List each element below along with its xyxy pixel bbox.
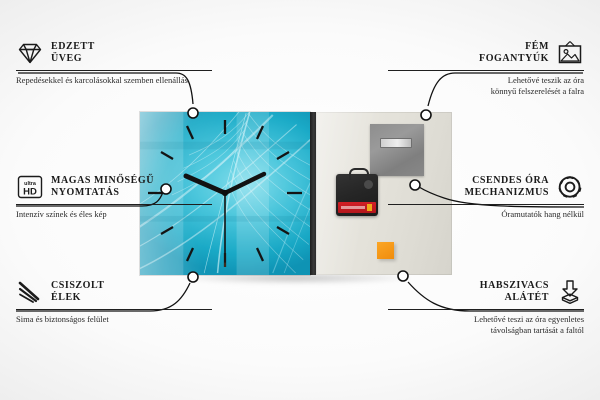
divider (388, 204, 584, 205)
feature-header: EDZETT ÜVEG (16, 40, 212, 66)
feature-title: HABSZIVACS ALÁTÉT (480, 280, 549, 305)
feature-header: HABSZIVACS ALÁTÉT (388, 279, 584, 305)
feature-title: MAGAS MINŐSÉGŰ NYOMTATÁS (51, 175, 154, 200)
feature-description: Lehetővé teszi az óra egyenletes távolsá… (388, 314, 584, 335)
mechanism-dial (364, 180, 373, 189)
feature-silent-mechanism[interactable]: CSENDES ÓRA MECHANIZMUS Óramutatók hang … (388, 174, 584, 220)
infographic-stage: EDZETT ÜVEG Repedésekkel és karcolásokka… (0, 0, 600, 400)
feature-header: ultra HD MAGAS MINŐSÉGŰ NYOMTATÁS (16, 174, 212, 200)
feature-tempered-glass[interactable]: EDZETT ÜVEG Repedésekkel és karcolásokka… (16, 40, 212, 86)
feature-title: FÉM FOGANTYÚK (479, 41, 549, 66)
foam-spacer-pad (377, 242, 394, 259)
battery (338, 202, 376, 213)
picture-frame-hanger-icon (556, 40, 584, 66)
battery-stripe (341, 206, 365, 209)
feature-description: Repedésekkel és karcolásokkal szemben el… (16, 75, 212, 86)
feature-description: Lehetővé teszik az óra könnyű felszerelé… (388, 75, 584, 96)
metal-hanger (370, 124, 424, 176)
battery-terminal (367, 204, 372, 211)
down-arrow-pad-icon (556, 279, 584, 305)
clock-mechanism (336, 174, 378, 216)
feature-description: Intenzív színek és éles kép (16, 209, 212, 220)
feature-title: EDZETT ÜVEG (51, 41, 95, 66)
divider (16, 204, 212, 205)
feature-title: CSISZOLT ÉLEK (51, 280, 105, 305)
feature-high-quality-print[interactable]: ultra HD MAGAS MINŐSÉGŰ NYOMTATÁS Intenz… (16, 174, 212, 220)
hanger-slot (380, 138, 412, 148)
diagonal-lines-icon (16, 279, 44, 305)
feature-foam-spacer[interactable]: HABSZIVACS ALÁTÉT Lehetővé teszi az óra … (388, 279, 584, 335)
svg-text:HD: HD (23, 187, 37, 198)
gear-icon (556, 174, 584, 200)
divider (16, 309, 212, 310)
divider (388, 309, 584, 310)
feature-title: CSENDES ÓRA MECHANIZMUS (465, 175, 549, 200)
feature-header: CSENDES ÓRA MECHANIZMUS (388, 174, 584, 200)
mechanism-hook (349, 168, 369, 180)
divider (388, 70, 584, 71)
feature-header: CSISZOLT ÉLEK (16, 279, 212, 305)
feature-polished-edges[interactable]: CSISZOLT ÉLEK Sima és biztonságos felüle… (16, 279, 212, 325)
diamond-icon (16, 40, 44, 66)
ultra-hd-icon: ultra HD (16, 174, 44, 200)
feature-description: Sima és biztonságos felület (16, 314, 212, 325)
feature-metal-handles[interactable]: FÉM FOGANTYÚK Lehetővé teszik az óra kön… (388, 40, 584, 96)
feature-description: Óramutatók hang nélkül (388, 209, 584, 220)
divider (16, 70, 212, 71)
feature-header: FÉM FOGANTYÚK (388, 40, 584, 66)
